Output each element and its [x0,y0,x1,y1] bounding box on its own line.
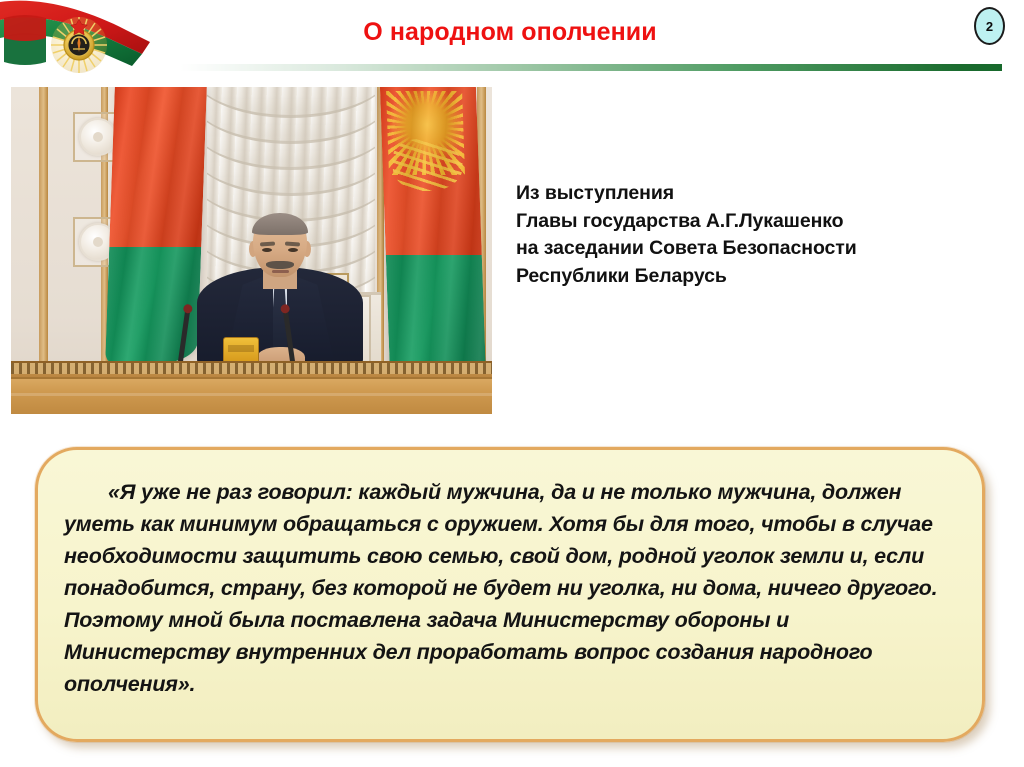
header-divider [0,64,1002,71]
belarus-flag-right [380,87,486,377]
photo-scene [11,87,492,414]
hair [252,213,308,235]
slide-header: О народном ополчении 2 [0,0,1024,80]
attribution-line-2: Главы государства А.Г.Лукашенко [516,208,996,236]
conference-table [11,377,492,414]
eye [262,248,272,252]
attribution-line-4: Республики Беларусь [516,263,996,291]
quote-text-body: «Я уже не раз говорил: каждый мужчина, д… [64,476,960,700]
attribution-line-1: Из выступления [516,180,996,208]
page-title: О народном ополчении [200,18,820,47]
eye [288,248,298,252]
mustache [266,261,294,269]
meeting-photo [11,87,492,414]
quote-paragraph: «Я уже не раз говорил: каждый мужчина, д… [64,476,960,700]
mouth [272,270,289,273]
wall-medallion [79,118,117,156]
belarus-flag-left [105,87,207,363]
page-number-badge: 2 [974,7,1005,45]
table-ornament-band [11,363,492,374]
desk-nameplate [223,337,259,363]
attribution-line-3: на заседании Совета Безопасности [516,235,996,263]
quote-callout: «Я уже не раз говорил: каждый мужчина, д… [35,447,985,742]
speech-attribution: Из выступления Главы государства А.Г.Лук… [516,180,996,290]
speaker-figure [197,215,363,365]
